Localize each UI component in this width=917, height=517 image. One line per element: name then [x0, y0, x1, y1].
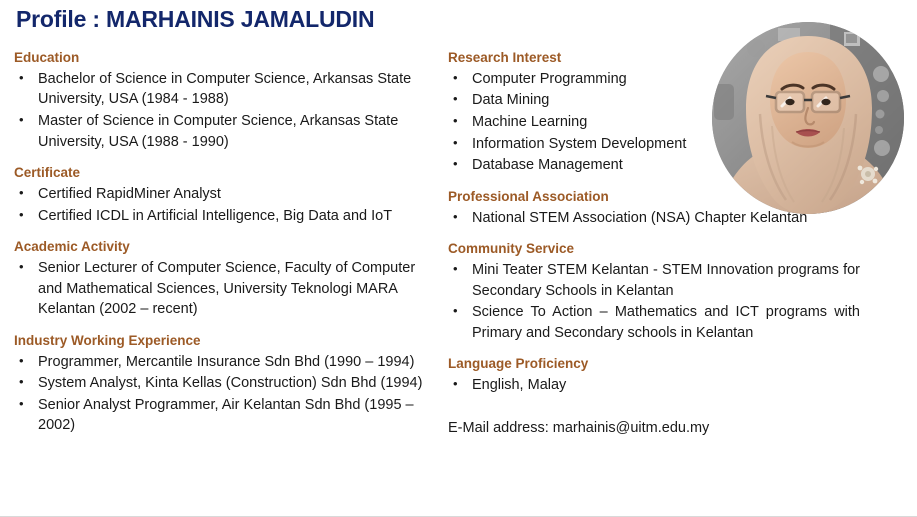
list-item: Senior Lecturer of Computer Science, Fac…	[14, 258, 434, 320]
section: Industry Working ExperienceProgrammer, M…	[14, 333, 434, 436]
section: Community ServiceMini Teater STEM Kelant…	[448, 241, 860, 343]
section-heading: Industry Working Experience	[14, 333, 434, 350]
list-item: Science To Action – Mathematics and ICT …	[448, 302, 860, 343]
section-heading: Community Service	[448, 241, 860, 258]
list-item: Master of Science in Computer Science, A…	[14, 111, 434, 152]
profile-slide: Profile : MARHAINIS JAMALUDIN EducationB…	[0, 0, 917, 517]
section-heading: Certificate	[14, 165, 434, 182]
section: CertificateCertified RapidMiner AnalystC…	[14, 165, 434, 226]
bullet-list: Certified RapidMiner AnalystCertified IC…	[14, 184, 434, 226]
list-item: Certified ICDL in Artificial Intelligenc…	[14, 206, 434, 227]
list-item: Certified RapidMiner Analyst	[14, 184, 434, 205]
list-item: System Analyst, Kinta Kellas (Constructi…	[14, 373, 434, 394]
section: Academic ActivitySenior Lecturer of Comp…	[14, 239, 434, 320]
list-item: English, Malay	[448, 375, 860, 396]
list-item: Mini Teater STEM Kelantan - STEM Innovat…	[448, 260, 860, 301]
bullet-list: Programmer, Mercantile Insurance Sdn Bhd…	[14, 352, 434, 436]
bullet-list: Senior Lecturer of Computer Science, Fac…	[14, 258, 434, 320]
section: Language ProficiencyEnglish, Malay	[448, 356, 860, 395]
page-title: Profile : MARHAINIS JAMALUDIN	[16, 6, 374, 33]
section-heading: Academic Activity	[14, 239, 434, 256]
list-item: Programmer, Mercantile Insurance Sdn Bhd…	[14, 352, 434, 373]
bullet-list: English, Malay	[448, 375, 860, 396]
section-heading: Education	[14, 50, 434, 67]
section: EducationBachelor of Science in Computer…	[14, 50, 434, 152]
left-column: EducationBachelor of Science in Computer…	[14, 50, 434, 437]
avatar	[712, 22, 904, 214]
email-line: E-Mail address: marhainis@uitm.edu.my	[448, 418, 860, 439]
portrait-photo-icon	[712, 22, 904, 214]
bullet-list: Mini Teater STEM Kelantan - STEM Innovat…	[448, 260, 860, 343]
list-item: Bachelor of Science in Computer Science,…	[14, 69, 434, 110]
list-item: Senior Analyst Programmer, Air Kelantan …	[14, 395, 434, 436]
bullet-list: Bachelor of Science in Computer Science,…	[14, 69, 434, 152]
section-heading: Language Proficiency	[448, 356, 860, 373]
